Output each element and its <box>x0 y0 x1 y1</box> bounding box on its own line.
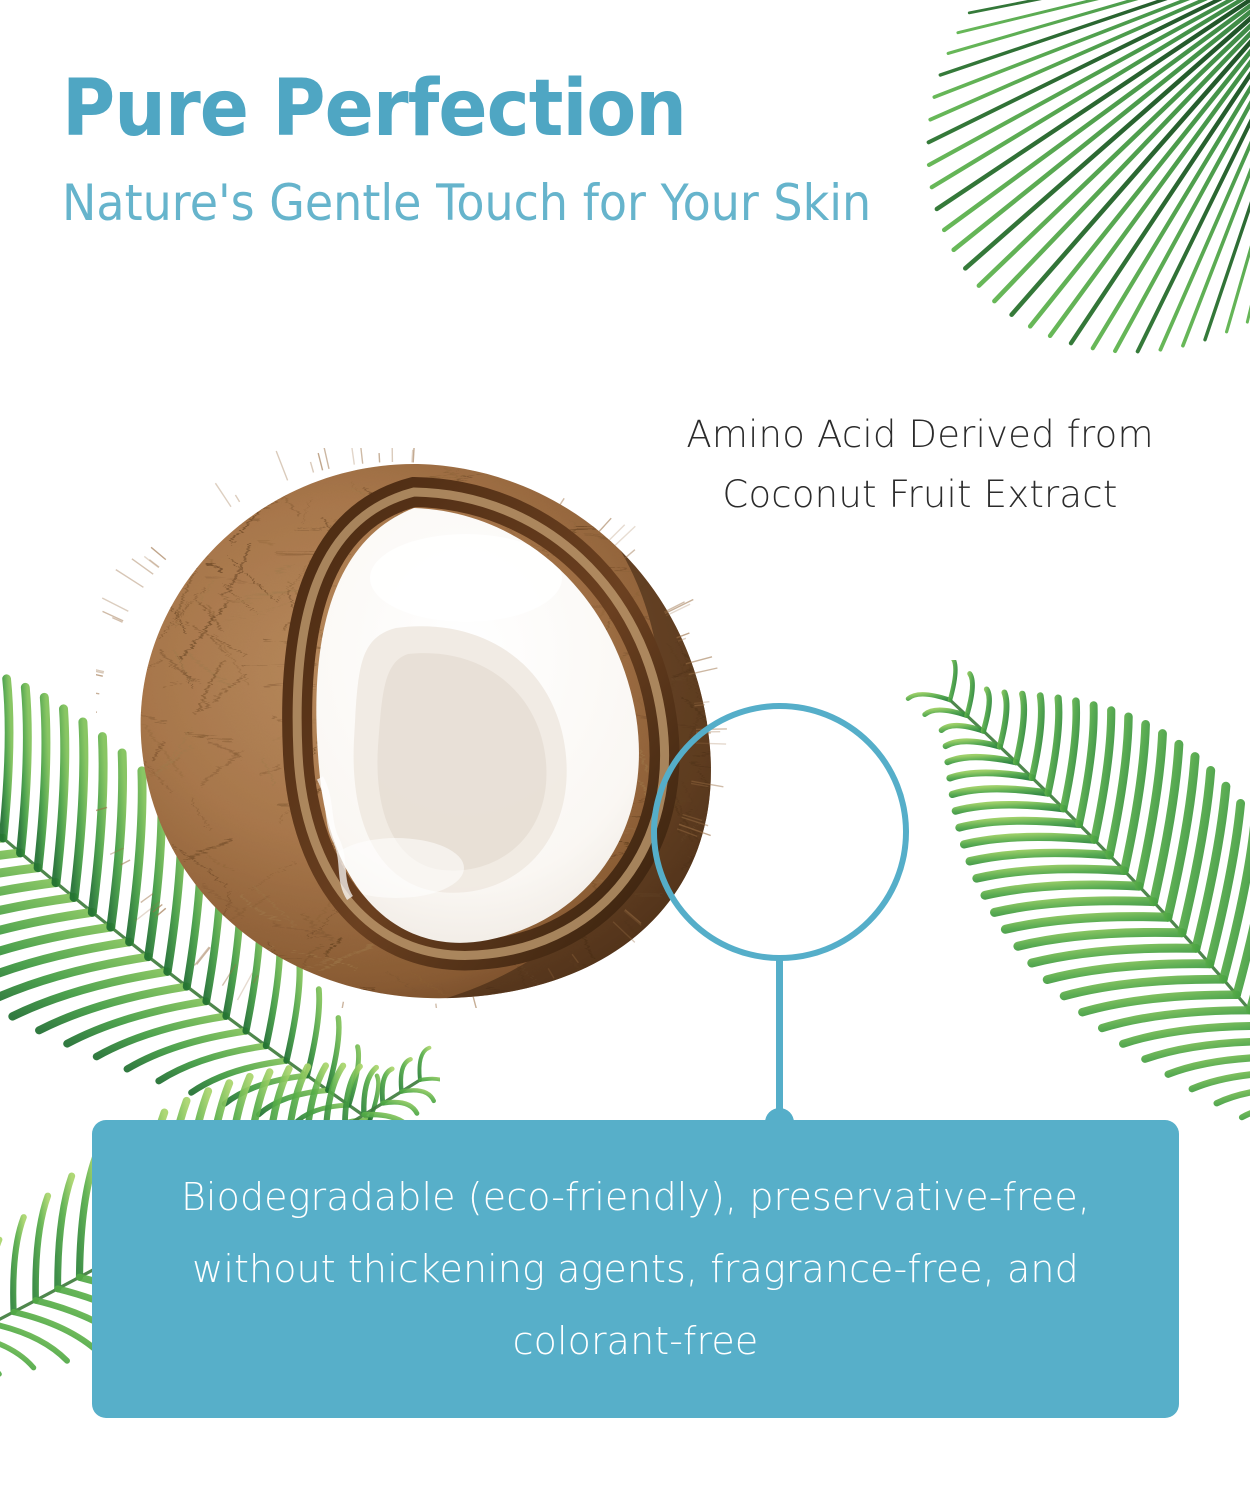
palm-frond-right-icon <box>890 660 1250 1180</box>
poster-canvas: Pure Perfection Nature's Gentle Touch fo… <box>0 0 1250 1500</box>
claims-panel: Biodegradable (eco-friendly), preservati… <box>92 1120 1179 1418</box>
claim-line: colorant-free <box>126 1305 1145 1377</box>
ingredient-caption: Amino Acid Derived from Coconut Fruit Ex… <box>620 405 1220 525</box>
ingredient-line-1: Amino Acid Derived from <box>620 405 1220 465</box>
callout-circle-icon <box>651 703 909 961</box>
ingredient-line-2: Coconut Fruit Extract <box>620 465 1220 525</box>
claim-line: Biodegradable (eco-friendly), preservati… <box>126 1161 1145 1233</box>
claim-line: without thickening agents, fragrance-fre… <box>126 1233 1145 1305</box>
page-subtitle: Nature's Gentle Touch for Your Skin <box>62 176 890 231</box>
callout-stem-connector <box>776 955 783 1127</box>
coconut-image <box>96 448 756 1008</box>
page-title: Pure Perfection <box>62 70 899 150</box>
headline-block: Pure Perfection Nature's Gentle Touch fo… <box>62 70 962 231</box>
